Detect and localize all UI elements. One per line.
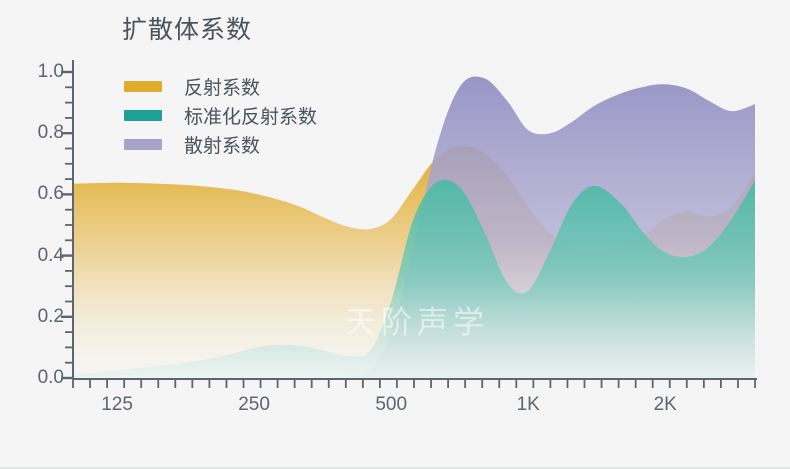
y-axis-tick-label: 0.6	[38, 183, 64, 205]
legend-swatch-scattering	[124, 139, 162, 150]
legend-label-normalized-reflection: 标准化反射系数	[184, 102, 317, 129]
chart-legend: 反射系数 标准化反射系数 散射系数	[124, 72, 317, 159]
x-axis-tick-label: 1K	[517, 394, 540, 416]
y-axis-tick-label: 0.4	[38, 245, 64, 267]
y-axis-tick-label: 0.8	[38, 122, 64, 144]
legend-item-normalized-reflection[interactable]: 标准化反射系数	[124, 101, 317, 130]
legend-label-reflection: 反射系数	[184, 73, 260, 100]
x-axis-tick-label: 125	[101, 394, 133, 416]
x-axis-tick-label: 250	[238, 394, 270, 416]
x-axis-ticks	[73, 379, 755, 388]
y-axis-tick-label: 1.0	[38, 61, 64, 83]
x-axis-tick-label: 2K	[654, 394, 677, 416]
x-axis-labels: 1252505001K2K	[0, 394, 790, 424]
y-axis-labels: 0.00.20.40.60.81.0	[16, 60, 64, 390]
chart-container: 扩散体系数	[0, 0, 790, 469]
x-axis-tick-label: 500	[375, 394, 407, 416]
y-axis-tick-label: 0.0	[38, 367, 64, 389]
legend-swatch-normalized-reflection	[124, 110, 162, 121]
y-axis-tick-label: 0.2	[38, 306, 64, 328]
legend-label-scattering: 散射系数	[184, 131, 260, 158]
legend-item-scattering[interactable]: 散射系数	[124, 130, 317, 159]
legend-swatch-reflection	[124, 81, 162, 92]
legend-item-reflection[interactable]: 反射系数	[124, 72, 317, 101]
